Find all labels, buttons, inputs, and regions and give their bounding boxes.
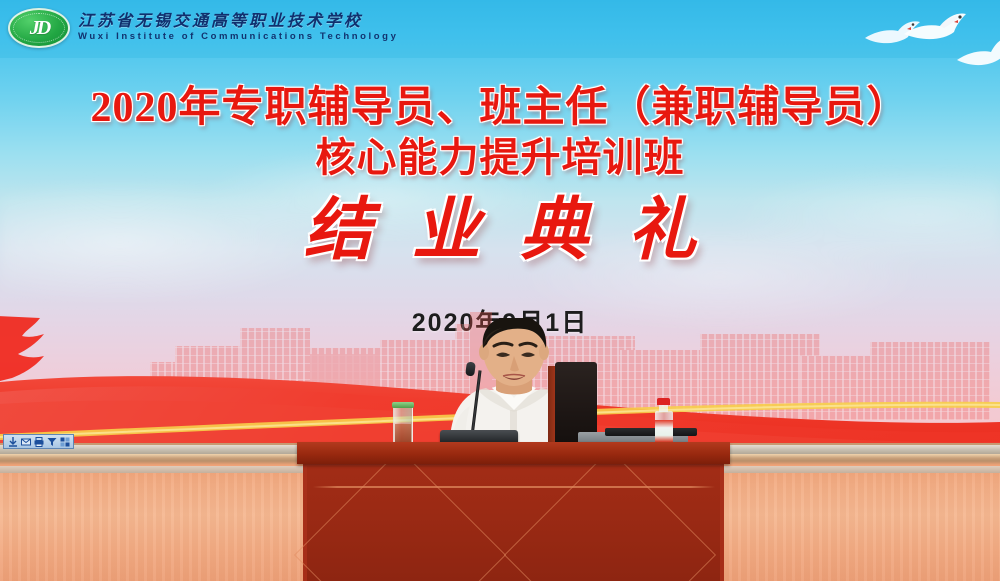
dove-icon bbox=[862, 18, 924, 52]
podium-diamond-right bbox=[504, 449, 716, 581]
podium-desktop bbox=[297, 442, 730, 464]
ceremony-calligraphy: 结业典礼 bbox=[0, 196, 1000, 264]
filter-icon[interactable] bbox=[46, 436, 57, 447]
school-name-english: Wuxi Institute of Communications Technol… bbox=[78, 32, 398, 42]
bottle-neck bbox=[659, 405, 668, 412]
school-identity-header: JD 江苏省无锡交通高等职业技术学校 Wuxi Institute of Com… bbox=[8, 8, 398, 48]
dove-icon bbox=[955, 30, 1000, 72]
image-action-toolbar[interactable] bbox=[3, 434, 74, 449]
water-bottle bbox=[655, 398, 673, 448]
podium-trim-line bbox=[313, 486, 715, 488]
logo-monogram: JD bbox=[30, 18, 48, 38]
podium-front-panel bbox=[307, 466, 720, 581]
document-folder bbox=[605, 428, 697, 436]
school-name-chinese: 江苏省无锡交通高等职业技术学校 bbox=[78, 14, 398, 31]
print-icon[interactable] bbox=[33, 436, 44, 447]
event-title-line-2: 核心能力提升培训班 bbox=[0, 137, 1000, 179]
event-title-block: 2020年专职辅导员、班主任（兼职辅导员） 核心能力提升培训班 bbox=[0, 86, 1000, 179]
podium-diamond-left bbox=[294, 449, 506, 581]
wuxi-institute-logo-icon: JD bbox=[8, 8, 70, 48]
email-icon[interactable] bbox=[20, 436, 31, 447]
event-title-line-1: 2020年专职辅导员、班主任（兼职辅导员） bbox=[0, 86, 1000, 131]
bottle-cap bbox=[657, 398, 670, 405]
screenshot-root: JD 江苏省无锡交通高等职业技术学校 Wuxi Institute of Com… bbox=[0, 0, 1000, 581]
grid-icon[interactable] bbox=[59, 436, 70, 447]
download-icon[interactable] bbox=[7, 436, 18, 447]
tea-glass-lid bbox=[392, 402, 414, 408]
bottle-label bbox=[655, 420, 673, 442]
school-name-group: 江苏省无锡交通高等职业技术学校 Wuxi Institute of Commun… bbox=[78, 14, 398, 42]
